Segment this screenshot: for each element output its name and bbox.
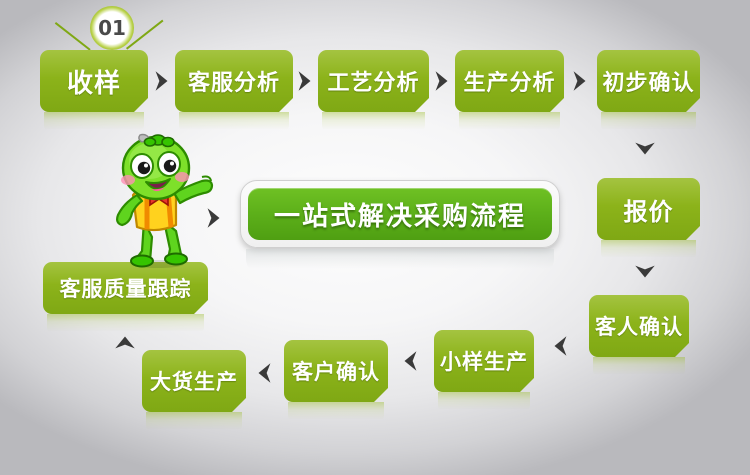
process-box-label: 初步确认 (602, 65, 694, 97)
arrow-left-icon (398, 348, 424, 374)
process-box-label: 工艺分析 (327, 65, 419, 97)
process-box-9[interactable]: 客户确认 (284, 340, 388, 402)
process-box-2[interactable]: 客服分析 (175, 50, 293, 112)
arrow-right-icon (291, 68, 317, 94)
process-box-label: 报价 (624, 192, 674, 227)
badge-01: 01 (90, 6, 134, 50)
process-box-11[interactable]: 客服质量跟踪 (43, 262, 208, 314)
center-banner-inner: 一站式解决采购流程 (248, 188, 552, 240)
process-box-label: 生产分析 (463, 65, 555, 97)
arrow-left-icon (252, 360, 278, 386)
process-box-6[interactable]: 报价 (597, 178, 700, 240)
arrow-right-icon (428, 68, 454, 94)
badge-number-label: 01 (98, 16, 126, 40)
process-box-1[interactable]: 收样 (40, 50, 148, 112)
process-box-reflection (44, 112, 144, 134)
center-banner-reflection (246, 249, 554, 275)
step-number-badge-group: 01 (54, 2, 174, 58)
process-box-reflection (288, 402, 384, 424)
process-box-reflection (179, 112, 289, 134)
center-banner-label: 一站式解决采购流程 (274, 196, 526, 233)
process-box-label: 小样生产 (440, 346, 528, 376)
process-box-4[interactable]: 生产分析 (455, 50, 564, 112)
arrow-left-icon (548, 333, 574, 359)
process-box-label: 客服分析 (188, 65, 280, 97)
arrow-down-icon (632, 258, 658, 284)
process-box-3[interactable]: 工艺分析 (318, 50, 429, 112)
badge-ray-left (55, 22, 91, 51)
process-box-label: 收样 (67, 63, 121, 100)
arrow-up-icon (112, 330, 138, 356)
process-box-5[interactable]: 初步确认 (597, 50, 700, 112)
arrow-right-icon (566, 68, 592, 94)
arrow-right-icon (148, 68, 174, 94)
process-box-reflection (146, 412, 242, 434)
process-box-label: 客服质量跟踪 (60, 273, 192, 303)
arrow-down-icon (632, 135, 658, 161)
process-box-reflection (322, 112, 425, 134)
process-box-reflection (593, 357, 685, 379)
process-box-label: 客户确认 (292, 356, 380, 386)
green-character-mascot-icon (106, 133, 216, 268)
process-box-reflection (438, 392, 530, 414)
process-box-label: 客人确认 (595, 311, 683, 341)
process-box-7[interactable]: 客人确认 (589, 295, 689, 357)
flowchart-canvas: 01 收样客服分析工艺分析生产分析初步确认报价客人确认小样生产客户确认大货生产客… (0, 0, 750, 475)
process-box-reflection (459, 112, 560, 134)
process-box-reflection (601, 112, 696, 134)
process-box-8[interactable]: 小样生产 (434, 330, 534, 392)
center-banner: 一站式解决采购流程 (240, 180, 560, 248)
process-box-label: 大货生产 (150, 366, 238, 396)
process-box-10[interactable]: 大货生产 (142, 350, 246, 412)
